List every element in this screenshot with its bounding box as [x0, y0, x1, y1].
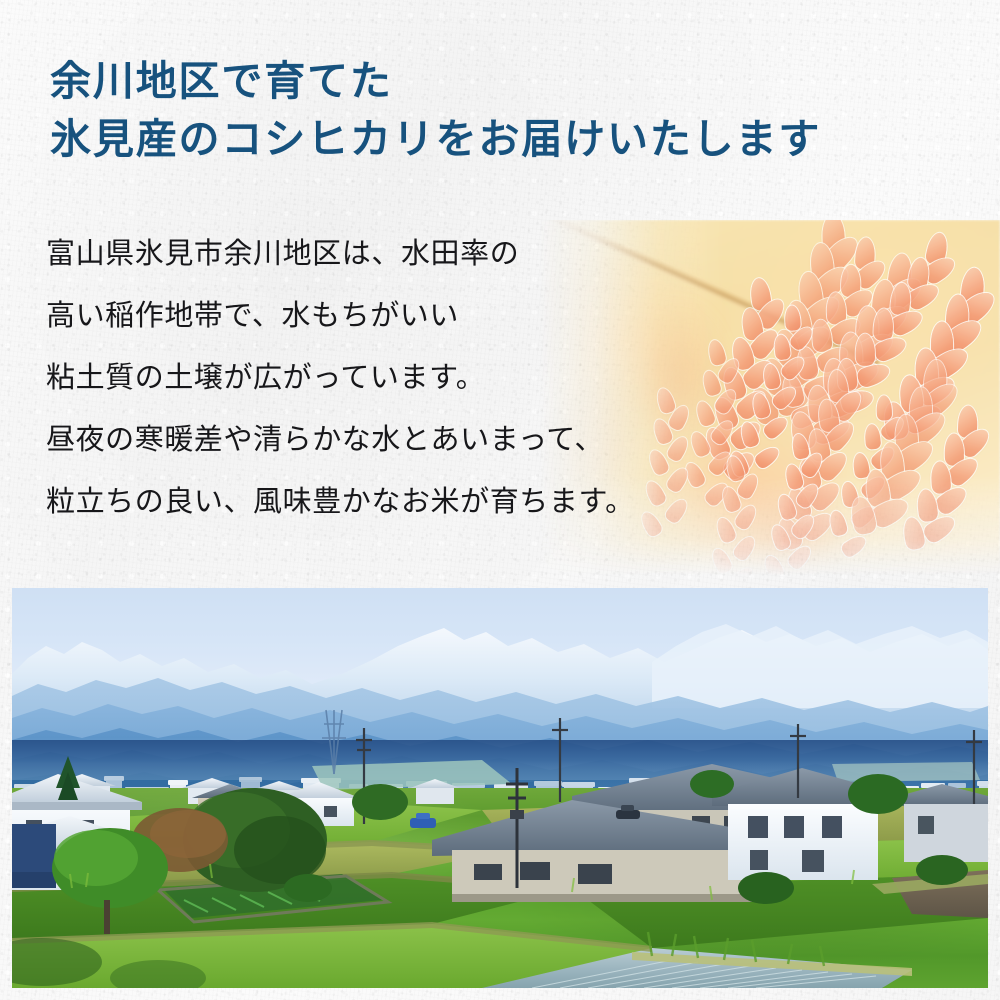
- house-bottomleft-blue: [12, 824, 56, 888]
- page-title: 余川地区で育てた 氷見産のコシヒカリをお届けいたします: [50, 52, 970, 168]
- promo-page: 余川地区で育てた 氷見産のコシヒカリをお届けいたします 富山県氷見市余川地区は、…: [0, 0, 1000, 1000]
- shrub-right-edge: [916, 855, 968, 885]
- shrub-farmhouse: [738, 872, 794, 904]
- body-copy-line-1: 富山県氷見市余川地区は、水田率の: [46, 222, 746, 284]
- rice-grain: [855, 333, 874, 365]
- shrub-center: [284, 874, 332, 902]
- body-copy: 富山県氷見市余川地区は、水田率の 高い稲作地帯で、水もちがいい 粘土質の土壌が広…: [46, 222, 746, 532]
- body-copy-line-4: 昼夜の寒暖差や清らかな水とあいまって、: [46, 408, 746, 470]
- body-copy-line-3: 粘土質の土壌が広がっています。: [46, 346, 746, 408]
- transmission-pylon: [322, 710, 346, 774]
- page-title-line-2: 氷見産のコシヒカリをお届けいたします: [50, 110, 970, 168]
- body-copy-line-2: 高い稲作地帯で、水もちがいい: [46, 284, 746, 346]
- foreground-scene: [12, 588, 988, 988]
- page-title-line-1: 余川地区で育てた: [50, 52, 970, 110]
- tree-right-2: [848, 774, 908, 814]
- body-copy-line-5: 粒立ちの良い、風味豊かなお米が育ちます。: [46, 470, 746, 532]
- tree-right-1: [352, 784, 408, 820]
- tree-right-3: [690, 770, 734, 798]
- yokawa-village-landscape: [12, 588, 988, 988]
- paddy-plot-far-mid: [832, 762, 980, 782]
- paddy-plot-far-left: [312, 760, 512, 790]
